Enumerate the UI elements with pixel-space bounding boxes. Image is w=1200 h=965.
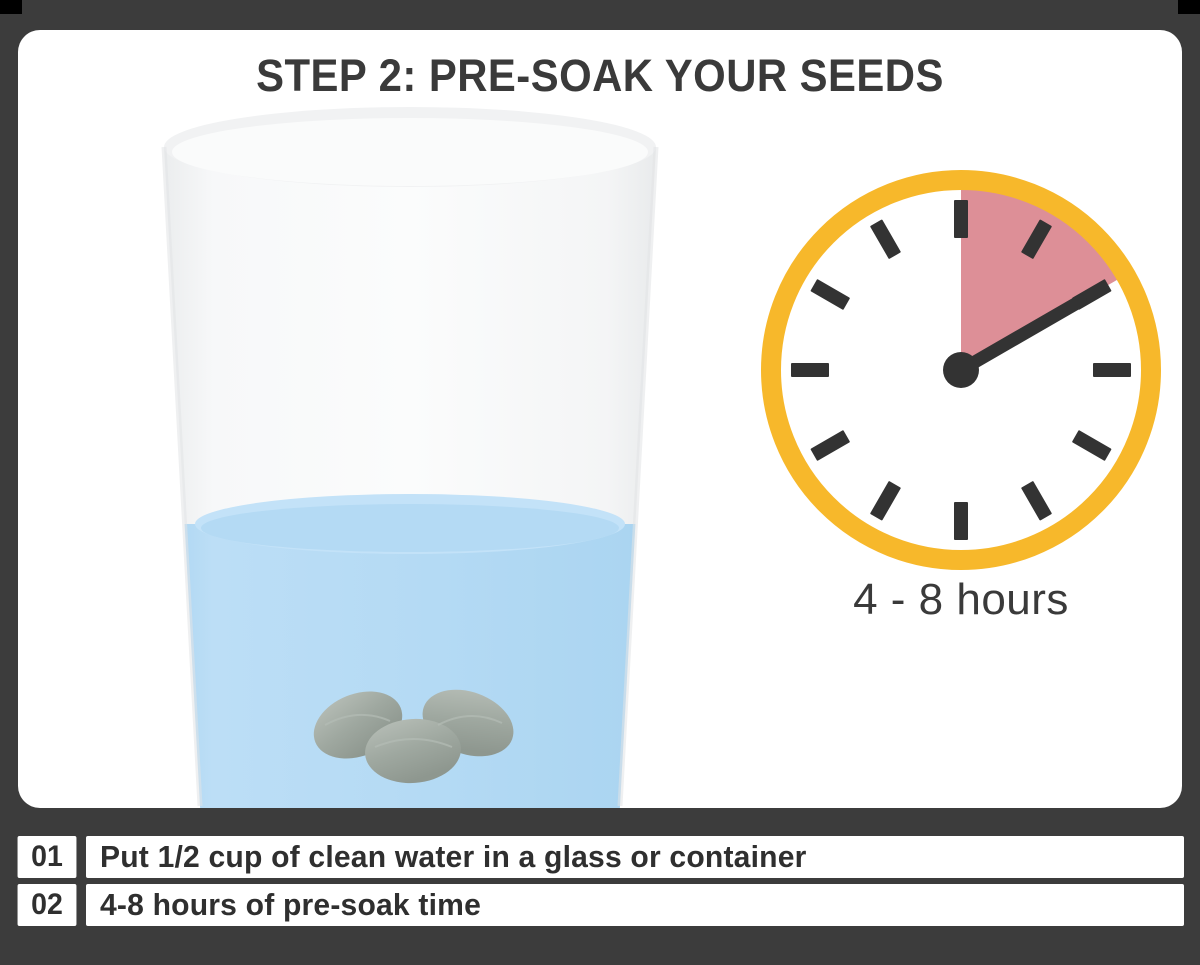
infographic-card: STEP 2: PRE-SOAK YOUR SEEDS — [18, 30, 1182, 808]
list-item[interactable]: 02 4-8 hours of pre-soak time — [16, 884, 1184, 926]
glass-illustration — [130, 100, 690, 808]
list-item[interactable]: 01 Put 1/2 cup of clean water in a glass… — [16, 836, 1184, 878]
step-text: 4-8 hours of pre-soak time — [86, 884, 1184, 926]
step-number: 01 — [18, 836, 77, 878]
clock-hand-hub — [943, 352, 979, 388]
clock-illustration: 4 - 8 hours — [736, 160, 1182, 660]
steps-list: 01 Put 1/2 cup of clean water in a glass… — [16, 836, 1184, 932]
step-text: Put 1/2 cup of clean water in a glass or… — [86, 836, 1184, 878]
clock-svg — [751, 160, 1171, 580]
corner-notch-top-left — [0, 0, 22, 14]
page-title: STEP 2: PRE-SOAK YOUR SEEDS — [59, 50, 1142, 102]
corner-notch-top-right — [1178, 0, 1200, 14]
glass-svg — [130, 100, 690, 808]
step-number: 02 — [18, 884, 77, 926]
clock-duration-label: 4 - 8 hours — [751, 575, 1171, 625]
